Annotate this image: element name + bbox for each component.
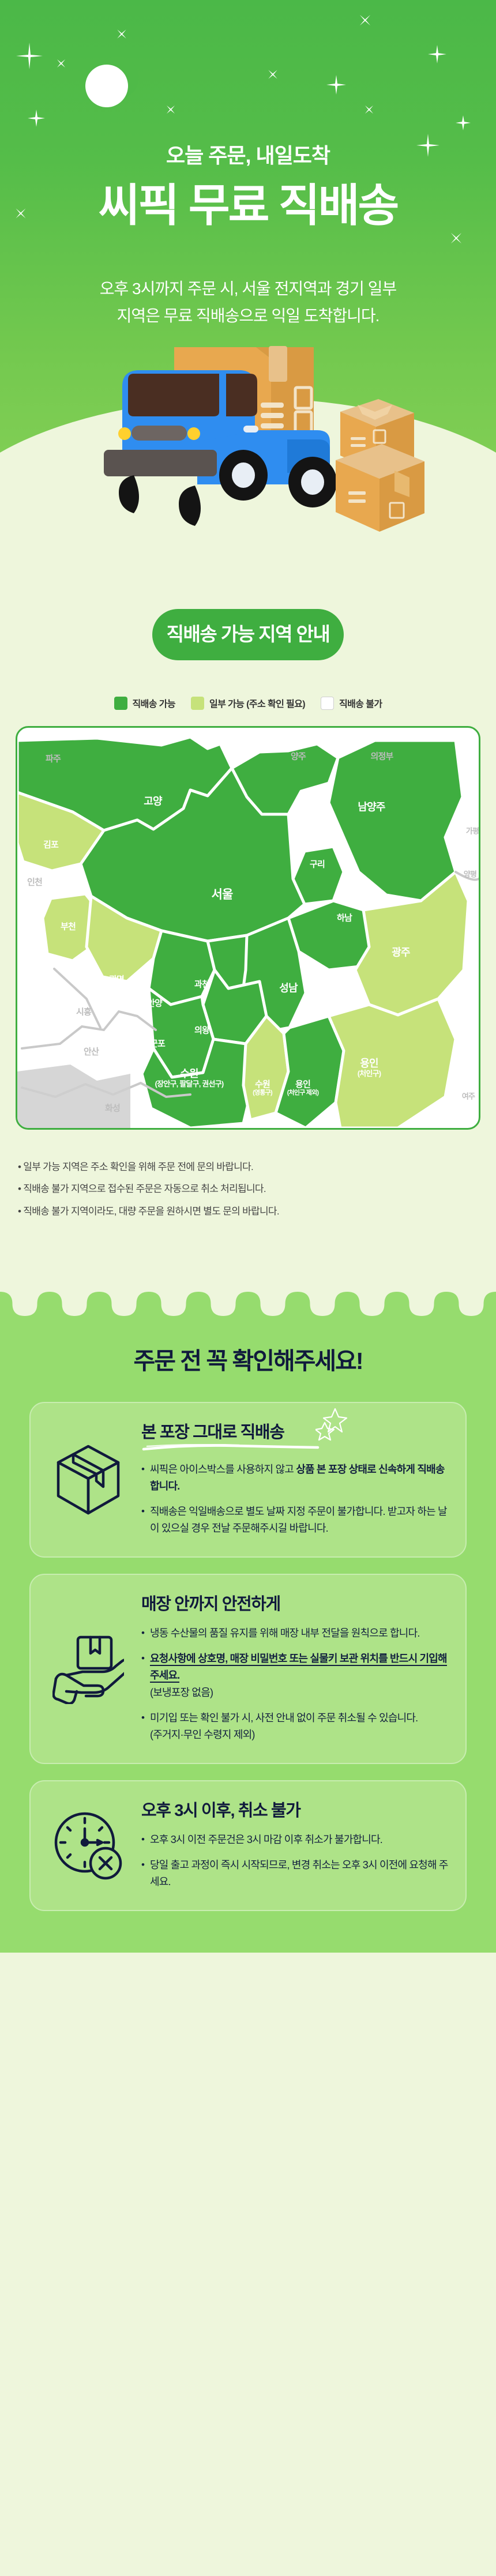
before-order-title: 주문 전 꼭 확인해주세요! — [0, 1347, 496, 1375]
hero-subtitle-line1: 오후 3시까지 주문 시, 서울 전지역과 경기 일부 — [0, 275, 496, 302]
before-order-section: 주문 전 꼭 확인해주세요! 본 포장 그대로 직배송 — [0, 1316, 496, 1953]
info-card-store-delivery: 매장 안까지 안전하게 냉동 수산물의 품질 유지를 위해 매장 내부 전달을 … — [29, 1574, 467, 1764]
title-underline-stroke — [141, 1444, 320, 1451]
info-card-body: 본 포장 그대로 직배송 씨픽은 아이스박스를 사용하지 않고 상품 본 포장 — [141, 1423, 448, 1537]
bullet-item: 씨픽은 아이스박스를 사용하지 않고 상품 본 포장 상태로 신속하게 직배송합… — [141, 1461, 448, 1495]
clock-cancel-icon — [46, 1810, 131, 1882]
sparkle-icon — [326, 75, 346, 95]
info-card-head: 매장 안까지 안전하게 — [141, 1595, 280, 1615]
sparkle-icon — [163, 101, 179, 118]
bullet-item: 직배송은 익일배송으로 별도 날짜 지정 주문이 불가합니다. 받고자 하는 날… — [141, 1503, 448, 1537]
legend-swatch-available — [114, 697, 127, 710]
sparkle-icon — [112, 25, 130, 43]
info-card-title: 오후 3시 이후, 취소 불가 — [141, 1801, 300, 1821]
delivery-truck-illustration — [53, 338, 457, 546]
bullet-lead: 직배송은 익일배송으로 별도 날짜 지정 주문이 불가합니다. 받고자 하는 날… — [150, 1506, 447, 1534]
legend-swatch-unavailable — [321, 697, 334, 710]
legend-swatch-partial — [191, 697, 204, 710]
bullet-lead: 미기입 또는 확인 불가 시, 사전 안내 없이 주문 취소될 수 있습니다. — [150, 1712, 418, 1724]
map-legend: 직배송 가능 일부 가능 (주소 확인 필요) 직배송 불가 — [0, 696, 496, 710]
bullet-item: 미기입 또는 확인 불가 시, 사전 안내 없이 주문 취소될 수 있습니다. … — [141, 1710, 448, 1743]
info-card-title: 매장 안까지 안전하게 — [141, 1595, 280, 1615]
info-card-package: 본 포장 그대로 직배송 씨픽은 아이스박스를 사용하지 않고 상품 본 포장 — [29, 1402, 467, 1558]
info-card-head: 본 포장 그대로 직배송 — [141, 1423, 320, 1451]
legend-label-partial: 일부 가능 (주소 확인 필요) — [209, 696, 305, 710]
info-card-title: 본 포장 그대로 직배송 — [141, 1423, 320, 1443]
bullet-lead: 냉동 수산물의 품질 유지를 위해 매장 내부 전달을 원칙으로 합니다. — [150, 1627, 420, 1639]
map-notes: • 일부 가능 지역은 주소 확인을 위해 주문 전에 문의 바랍니다. • 직… — [16, 1156, 480, 1223]
delivery-area-guide-button[interactable]: 직배송 가능 지역 안내 — [152, 609, 344, 660]
map-note: • 직배송 불가 지역으로 접수된 주문은 자동으로 취소 처리됩니다. — [16, 1178, 480, 1200]
sparkle-icon — [355, 10, 376, 31]
promo-page: 오늘 주문, 내일도착 씨픽 무료 직배송 오후 3시까지 주문 시, 서울 전… — [0, 0, 496, 1953]
sparkle-icon — [456, 115, 471, 130]
legend-item-unavailable: 직배송 불가 — [321, 696, 382, 710]
hero-copy: 오늘 주문, 내일도착 씨픽 무료 직배송 오후 3시까지 주문 시, 서울 전… — [0, 143, 496, 329]
map-note: • 일부 가능 지역은 주소 확인을 위해 주문 전에 문의 바랍니다. — [16, 1156, 480, 1178]
bullet-item: 당일 출고 과정이 즉시 시작되므로, 변경 취소는 오후 3시 이전에 요청해… — [141, 1857, 448, 1890]
seoul-gyeonggi-map[interactable]: 파주양주의정부고양남양주김포가평인천구리양평서울하남부천광주광명안양과천성남시흥… — [16, 726, 480, 1130]
info-card-body: 매장 안까지 안전하게 냉동 수산물의 품질 유지를 위해 매장 내부 전달을 … — [141, 1595, 448, 1743]
info-card-cancel-deadline: 오후 3시 이후, 취소 불가 오후 3시 이전 주문건은 3시 마감 이후 취… — [29, 1780, 467, 1911]
legend-label-available: 직배송 가능 — [133, 696, 175, 710]
hero-title: 씨픽 무료 직배송 — [0, 180, 496, 231]
sparkle-icon — [53, 55, 69, 72]
bullet-item: 요청사항에 상호명, 매장 비밀번호 또는 실물키 보관 위치를 반드시 기입해… — [141, 1650, 448, 1701]
hero-section: 오늘 주문, 내일도착 씨픽 무료 직배송 오후 3시까지 주문 시, 서울 전… — [0, 0, 496, 577]
bullet-note: (주거지·무인 수령지 제외) — [150, 1727, 448, 1743]
sparkle-icon — [264, 65, 281, 83]
package-box-icon — [46, 1443, 131, 1517]
sparkle-icon — [428, 45, 446, 63]
hero-subtitle-line2: 지역은 무료 직배송으로 익일 도착합니다. — [0, 302, 496, 329]
legend-item-available: 직배송 가능 — [114, 696, 175, 710]
info-card-bullets: 씨픽은 아이스박스를 사용하지 않고 상품 본 포장 상태로 신속하게 직배송합… — [141, 1461, 448, 1537]
sparkle-icon — [28, 110, 45, 127]
info-card-list: 본 포장 그대로 직배송 씨픽은 아이스박스를 사용하지 않고 상품 본 포장 — [29, 1402, 467, 1911]
wave-divider — [0, 1280, 496, 1316]
info-card-head: 오후 3시 이후, 취소 불가 — [141, 1801, 300, 1821]
bullet-bold-underline: 요청사항에 상호명, 매장 비밀번호 또는 실물키 보관 위치를 반드시 기입해… — [150, 1653, 447, 1683]
sparkle-star-icon — [315, 1408, 348, 1442]
sparkle-icon — [361, 101, 377, 118]
map-note: • 직배송 불가 지역이라도, 대량 주문을 원하시면 별도 문의 바랍니다. — [16, 1201, 480, 1223]
legend-item-partial: 일부 가능 (주소 확인 필요) — [191, 696, 305, 710]
hand-holding-box-icon — [46, 1634, 131, 1704]
bullet-lead: 오후 3시 이전 주문건은 3시 마감 이후 취소가 불가합니다. — [150, 1834, 382, 1845]
info-card-body: 오후 3시 이후, 취소 불가 오후 3시 이전 주문건은 3시 마감 이후 취… — [141, 1801, 448, 1890]
bullet-note: (보냉포장 없음) — [150, 1684, 448, 1701]
hero-kicker: 오늘 주문, 내일도착 — [0, 143, 496, 168]
info-card-bullets: 냉동 수산물의 품질 유지를 위해 매장 내부 전달을 원칙으로 합니다. 요청… — [141, 1625, 448, 1743]
bullet-lead: 당일 출고 과정이 즉시 시작되므로, 변경 취소는 오후 3시 이전에 요청해… — [150, 1859, 448, 1887]
crescent-moon-icon — [80, 59, 133, 112]
legend-label-unavailable: 직배송 불가 — [339, 696, 382, 710]
sparkle-icon — [16, 43, 43, 69]
bullet-item: 냉동 수산물의 품질 유지를 위해 매장 내부 전달을 원칙으로 합니다. — [141, 1625, 448, 1642]
info-card-bullets: 오후 3시 이전 주문건은 3시 마감 이후 취소가 불가합니다. 당일 출고 … — [141, 1832, 448, 1890]
delivery-map-section: 직배송 가능 지역 안내 직배송 가능 일부 가능 (주소 확인 필요) 직배송… — [0, 577, 496, 1280]
bullet-lead: 씨픽은 아이스박스를 사용하지 않고 — [150, 1464, 296, 1475]
bullet-item: 오후 3시 이전 주문건은 3시 마감 이후 취소가 불가합니다. — [141, 1832, 448, 1848]
